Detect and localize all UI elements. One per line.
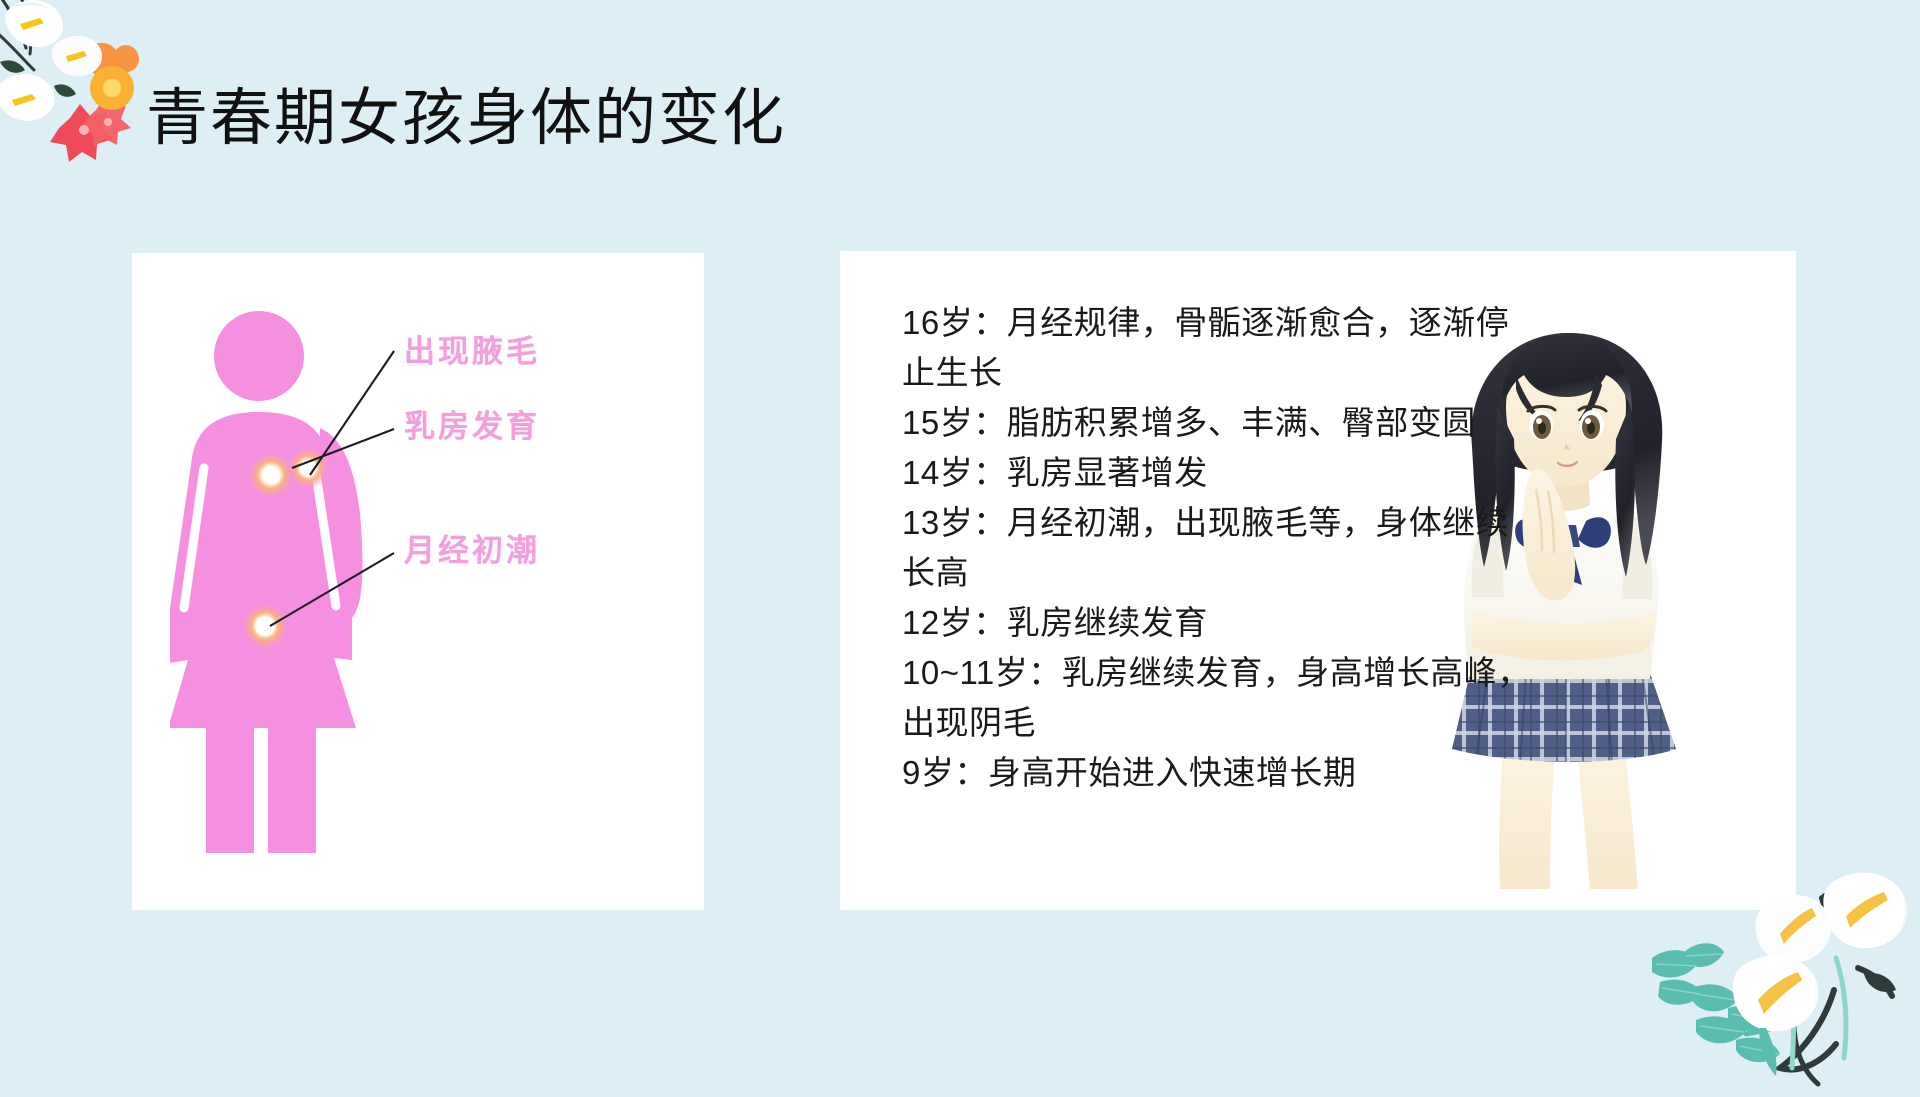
age-milestone-list: 16岁：月经规律，骨骺逐渐愈合，逐渐停止生长 15岁：脂肪积累增多、丰满、臀部变… [902, 298, 1542, 798]
callout-label-menarche: 月经初潮 [404, 525, 540, 570]
callout-label-armpit-hair: 出现腋毛 [404, 326, 540, 371]
diagram-card: 出现腋毛 乳房发育 月经初潮 [132, 253, 704, 910]
callout-label-group: 出现腋毛 乳房发育 月经初潮 [132, 253, 704, 910]
slide-root: 青春期女孩身体的变化 [0, 0, 1920, 1080]
timeline-text-card: 16岁：月经规律，骨骺逐渐愈合，逐渐停止生长 15岁：脂肪积累增多、丰满、臀部变… [840, 251, 1796, 910]
list-item: 14岁：乳房显著增发 [902, 448, 1542, 498]
list-item: 16岁：月经规律，骨骺逐渐愈合，逐渐停止生长 [902, 298, 1542, 398]
list-item: 15岁：脂肪积累增多、丰满、臀部变圆 [902, 398, 1542, 448]
page-title: 青春期女孩身体的变化 [146, 84, 786, 153]
list-item: 13岁：月经初潮，出现腋毛等，身体继续长高 [902, 498, 1542, 598]
list-item: 9岁：身高开始进入快速增长期 [902, 748, 1542, 798]
female-pictogram-diagram: 出现腋毛 乳房发育 月经初潮 [132, 253, 704, 910]
list-item: 12岁：乳房继续发育 [902, 598, 1542, 648]
flower-cluster-top-left-icon [0, 0, 162, 165]
callout-label-breast-development: 乳房发育 [404, 401, 540, 446]
list-item: 10~11岁：乳房继续发育，身高增长高峰，出现阴毛 [902, 648, 1542, 748]
